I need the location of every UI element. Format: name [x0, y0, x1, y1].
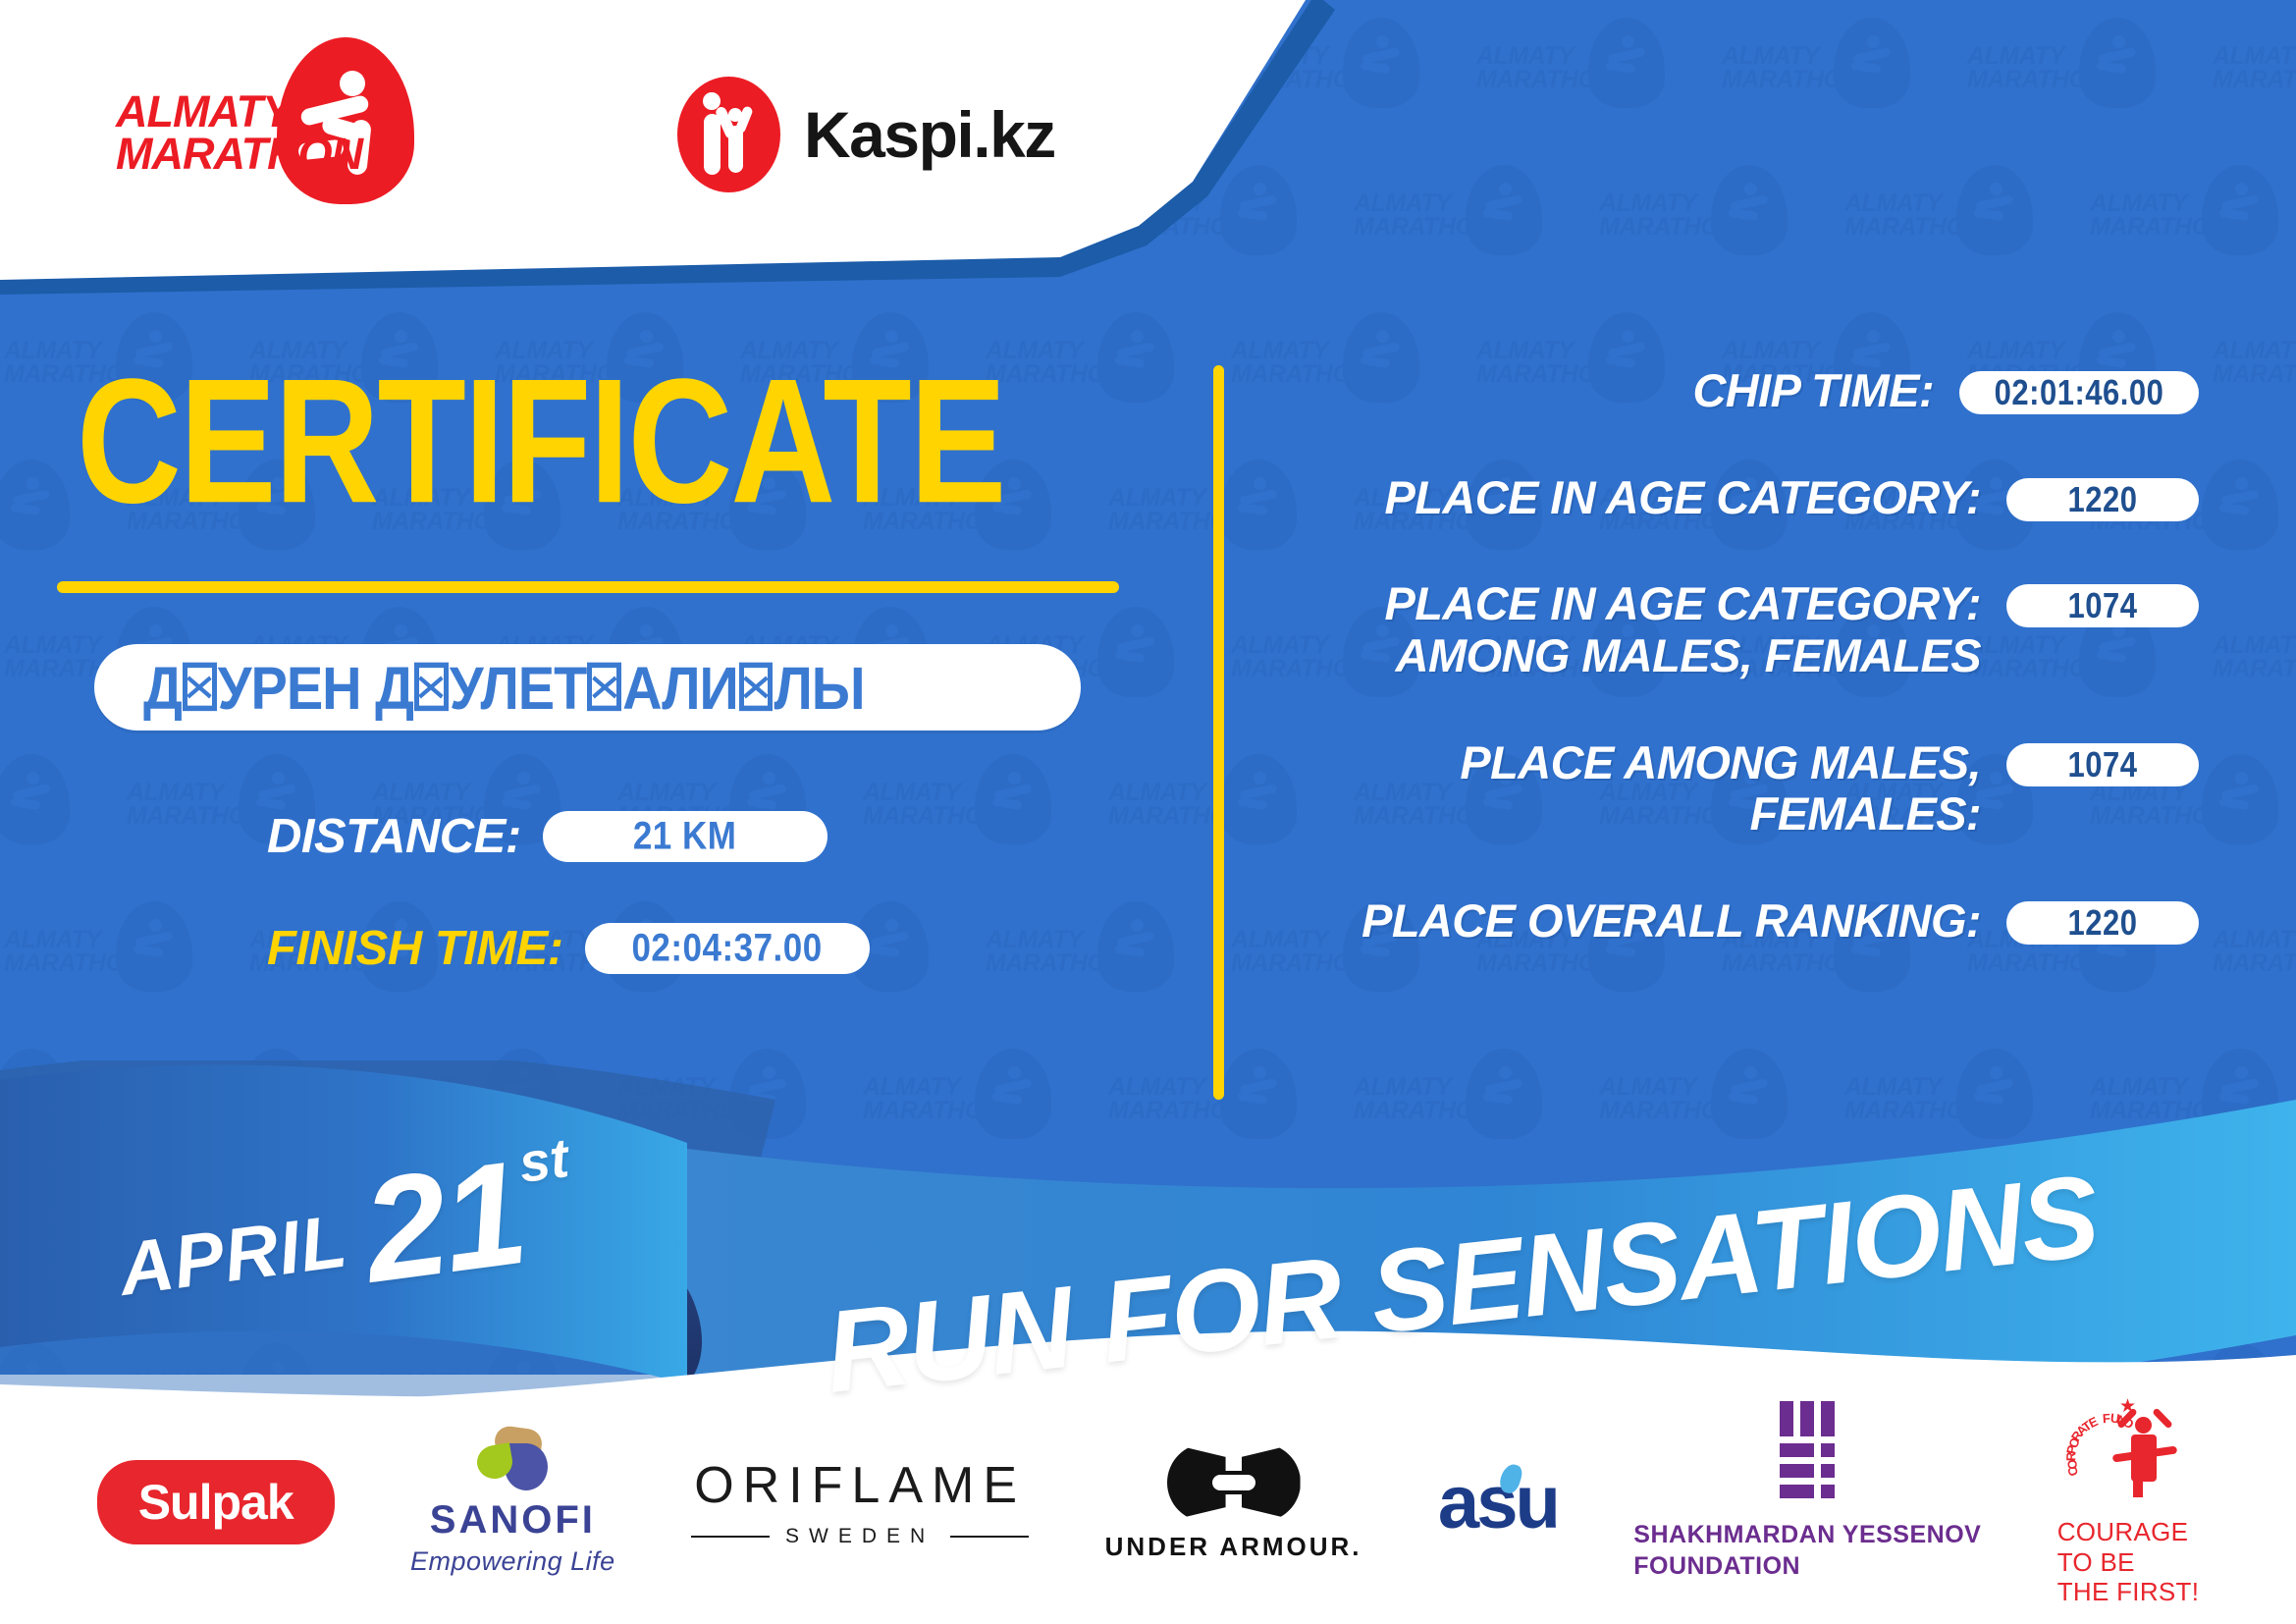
almaty-logo-text: ALMATY MARATHON	[116, 90, 362, 175]
stat-place-among-males-females: PLACE AMONG MALES, FEMALES: 1074	[1276, 737, 2199, 840]
watermark-tile: ALMATYMARATHON	[2209, 295, 2296, 442]
watermark-tile: ALMATYMARATHON	[1963, 0, 2209, 147]
sponsor-sanofi: SANOFI Empowering Life	[410, 1428, 615, 1577]
stat-place-overall-ranking-pill: 1220	[2006, 901, 2199, 945]
stat-chip-time-value: 02:01:46.00	[1995, 372, 2164, 413]
stat-place-among-males-females-label: PLACE AMONG MALES, FEMALES:	[1276, 737, 1981, 840]
stat-place-among-males-females-pill: 1074	[2006, 743, 2199, 786]
watermark-tile: ALMATYMARATHON	[2209, 589, 2296, 736]
watermark-tile: ALMATYMARATHON	[2209, 884, 2296, 1031]
sponsor-courage: CORPORATE FUND ★ COURAGE TO BE THE FIRST…	[2057, 1397, 2200, 1607]
almaty-marathon-logo: ALMATY MARATHON	[116, 47, 440, 185]
stat-place-age-category-label: PLACE IN AGE CATEGORY:	[1276, 472, 1981, 524]
stat-place-among-males-females-value: 1074	[2068, 743, 2138, 785]
stat-place-overall-ranking-value: 1220	[2068, 902, 2138, 944]
watermark-tile: ALMATYMARATHON	[1595, 147, 1841, 295]
title-underline	[57, 581, 1119, 593]
oriflame-rule-right	[950, 1536, 1029, 1538]
vertical-divider	[1213, 365, 1224, 1100]
sponsor-sulpak: Sulpak	[97, 1460, 335, 1544]
name-seg-4: АЛИ	[622, 653, 738, 721]
sponsor-under-armour: UNDER ARMOUR.	[1105, 1443, 1362, 1562]
missing-glyph-icon	[183, 662, 217, 710]
yessenov-mark-icon	[1780, 1423, 1835, 1498]
yessenov-line1: SHAKHMARDAN YESSENOV	[1633, 1520, 1981, 1550]
stat-finish-time-value: 02:04:37.00	[631, 926, 822, 971]
stat-chip-time-pill: 02:01:46.00	[1959, 371, 2199, 414]
ribbon-month: APRIL	[114, 1198, 351, 1313]
ribbon-day-suffix: st	[515, 1125, 572, 1195]
sponsor-asu: asu	[1438, 1460, 1558, 1545]
stat-finish-time-label: FINISH TIME:	[267, 921, 563, 976]
almaty-logo-line2: MARATHON	[116, 133, 362, 175]
missing-glyph-icon	[739, 662, 774, 710]
missing-glyph-icon	[414, 662, 449, 710]
stat-distance-label: DISTANCE:	[267, 809, 521, 864]
under-armour-name: UNDER ARMOUR.	[1105, 1532, 1362, 1562]
courage-mark-icon: CORPORATE FUND ★	[2074, 1397, 2182, 1499]
stat-place-age-category-among-pill: 1074	[2006, 584, 2199, 627]
stat-distance: DISTANCE: 21 KM	[267, 809, 1158, 864]
participant-name-field: ДУРЕН ДУЛЕТАЛИЛЫ	[94, 644, 1081, 731]
courage-line3: THE FIRST!	[2057, 1577, 2200, 1607]
stat-chip-time-label: CHIP TIME:	[1276, 365, 1934, 417]
sponsor-bar: Sulpak SANOFI Empowering Life ORIFLAME S…	[0, 1414, 2296, 1591]
name-seg-2: УРЕН Д	[218, 653, 413, 721]
under-armour-mark-icon	[1167, 1443, 1301, 1522]
almaty-logo-line1: ALMATY	[116, 90, 362, 133]
sulpak-logo: Sulpak	[97, 1460, 335, 1544]
courage-text: COURAGE TO BE THE FIRST!	[2057, 1517, 2200, 1607]
watermark-tile: ALMATYMARATHON	[1350, 147, 1595, 295]
stat-place-age-category-among-value: 1074	[2068, 585, 2138, 626]
ribbon-day: 21	[357, 1152, 530, 1292]
stat-distance-pill: 21 KM	[543, 811, 828, 862]
stat-chip-time: CHIP TIME: 02:01:46.00	[1276, 365, 2199, 417]
certificate-canvas: ALMATYMARATHONALMATYMARATHONALMATYMARATH…	[0, 0, 2296, 1624]
stat-place-age-category-among: PLACE IN AGE CATEGORY: AMONG MALES, FEMA…	[1276, 578, 2199, 681]
stat-place-age-category: PLACE IN AGE CATEGORY: 1220	[1276, 472, 2199, 524]
courage-figure-icon	[2113, 1407, 2176, 1491]
name-seg-1: Д	[143, 653, 182, 721]
sanofi-mark-icon	[471, 1428, 554, 1492]
asu-logo: asu	[1438, 1460, 1558, 1545]
courage-line1: COURAGE	[2057, 1517, 2200, 1547]
stat-distance-value: 21 KM	[633, 814, 737, 859]
oriflame-name: ORIFLAME	[694, 1456, 1026, 1515]
stat-place-age-category-value: 1220	[2068, 478, 2138, 519]
oriflame-tagline: SWEDEN	[785, 1525, 934, 1548]
stat-finish-time: FINISH TIME: 02:04:37.00	[267, 921, 1158, 976]
oriflame-rule-left	[691, 1536, 770, 1538]
stat-place-age-category-pill: 1220	[2006, 478, 2199, 521]
watermark-tile: ALMATYMARATHON	[1718, 0, 1963, 147]
sanofi-tagline: Empowering Life	[410, 1546, 615, 1577]
stat-finish-time-pill: 02:04:37.00	[585, 923, 870, 974]
kaspi-figures-icon	[677, 77, 780, 192]
left-column: CERTIFICATE ДУРЕН ДУЛЕТАЛИЛЫ DISTANCE: 2…	[0, 295, 1158, 976]
kaspi-logo: Kaspi.kz	[677, 77, 1055, 192]
courage-line2: TO BE	[2057, 1547, 2200, 1578]
stat-place-overall-ranking: PLACE OVERALL RANKING: 1220	[1276, 895, 2199, 947]
asu-name: asu	[1438, 1461, 1558, 1544]
watermark-tile: ALMATYMARATHON	[1841, 147, 2086, 295]
yessenov-line2: FOUNDATION	[1633, 1551, 1981, 1582]
stat-place-age-category-among-label: PLACE IN AGE CATEGORY: AMONG MALES, FEMA…	[1276, 578, 1981, 681]
sanofi-name: SANOFI	[430, 1498, 596, 1543]
watermark-tile: ALMATYMARATHON	[2209, 0, 2296, 147]
stat-place-overall-ranking-label: PLACE OVERALL RANKING:	[1276, 895, 1981, 947]
missing-glyph-icon	[587, 662, 621, 710]
watermark-tile: ALMATYMARATHON	[2086, 147, 2296, 295]
name-seg-3: УЛЕТ	[450, 653, 587, 721]
sponsor-yessenov: SHAKHMARDAN YESSENOV FOUNDATION	[1633, 1423, 1981, 1582]
participant-name-text: ДУРЕН ДУЛЕТАЛИЛЫ	[143, 652, 865, 723]
watermark-tile: ALMATYMARATHON	[1472, 0, 1718, 147]
right-column: CHIP TIME: 02:01:46.00 PLACE IN AGE CATE…	[1276, 365, 2199, 1001]
name-seg-5: ЛЫ	[774, 653, 864, 721]
yessenov-name: SHAKHMARDAN YESSENOV FOUNDATION	[1633, 1520, 1981, 1582]
page-title: CERTIFICATE	[77, 353, 1158, 531]
sponsor-oriflame: ORIFLAME SWEDEN	[691, 1456, 1029, 1548]
kaspi-logo-text: Kaspi.kz	[804, 97, 1055, 172]
oriflame-sub: SWEDEN	[691, 1525, 1029, 1548]
